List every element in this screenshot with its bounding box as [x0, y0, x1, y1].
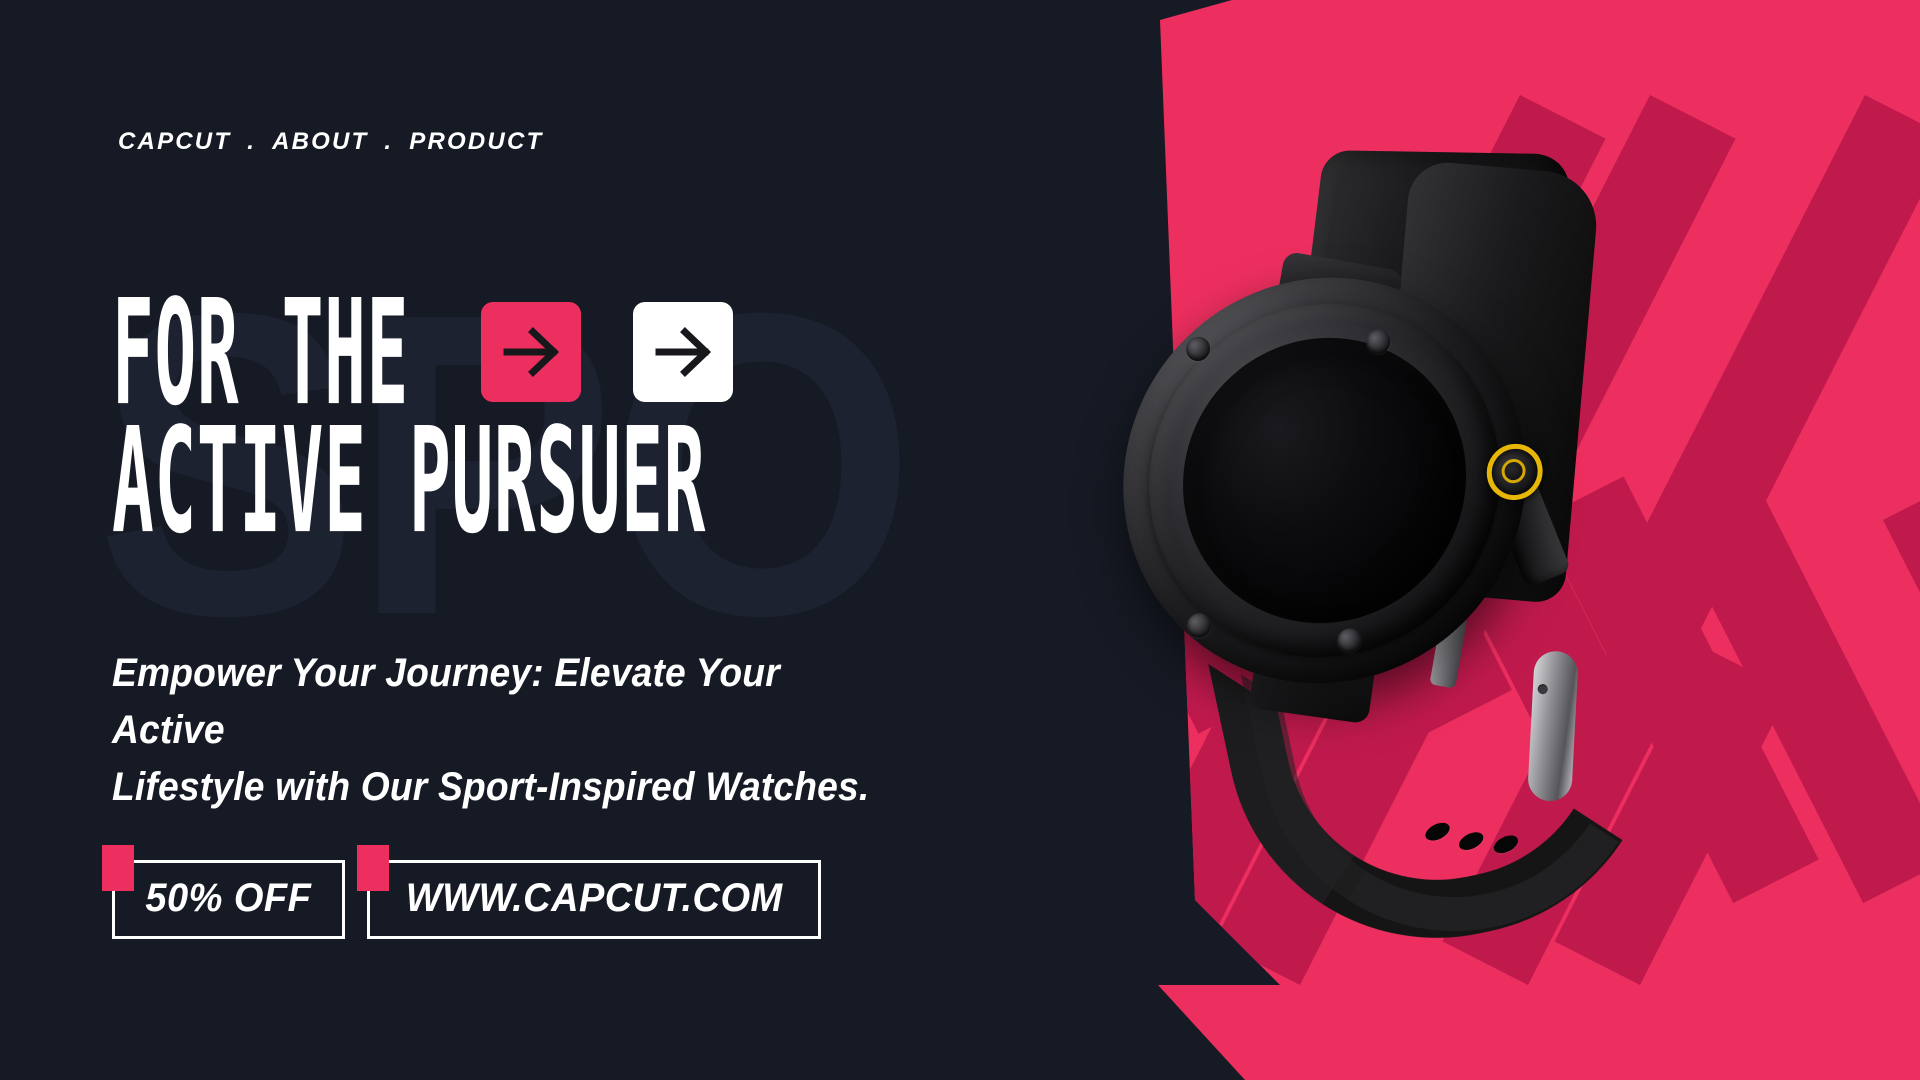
poster-canvas: SPO CAPCUT . ABOUT . PRODUCT FOR THE — [0, 0, 1920, 1080]
next-button-primary[interactable] — [481, 302, 581, 402]
badge-corner-square — [102, 845, 134, 891]
arrow-right-icon — [651, 320, 715, 384]
watch-screen — [1169, 320, 1480, 642]
hero-subtitle: Empower Your Journey: Elevate Your Activ… — [112, 645, 884, 815]
top-navigation: CAPCUT . ABOUT . PRODUCT — [118, 128, 543, 156]
nav-separator-2: . — [368, 128, 409, 156]
nav-item-product[interactable]: PRODUCT — [409, 128, 543, 156]
product-image-smartwatch — [1085, 150, 1725, 950]
watch-buckle — [1527, 650, 1579, 802]
headline-row-1: FOR THE — [112, 300, 1092, 410]
arrow-right-icon — [499, 320, 563, 384]
badge-corner-square — [357, 845, 389, 891]
hero-headline: FOR THE — [112, 300, 1092, 538]
discount-badge-label: 50% OFF — [145, 876, 311, 921]
watch-crown-inner — [1500, 458, 1526, 485]
next-button-secondary[interactable] — [633, 302, 733, 402]
nav-item-about[interactable]: ABOUT — [272, 128, 368, 156]
headline-line-2: ACTIVE PURSUER — [112, 411, 720, 554]
discount-badge[interactable]: 50% OFF — [112, 860, 345, 939]
subtitle-line-1: Empower Your Journey: Elevate Your Activ… — [112, 645, 884, 759]
nav-item-capcut[interactable]: CAPCUT — [118, 128, 231, 156]
nav-separator-1: . — [231, 128, 272, 156]
website-badge-label: WWW.CAPCUT.COM — [406, 876, 783, 921]
cta-badges: 50% OFF WWW.CAPCUT.COM — [112, 860, 821, 939]
hero-arrow-buttons — [481, 302, 733, 402]
subtitle-line-2: Lifestyle with Our Sport-Inspired Watche… — [112, 759, 884, 816]
website-badge[interactable]: WWW.CAPCUT.COM — [367, 860, 822, 939]
